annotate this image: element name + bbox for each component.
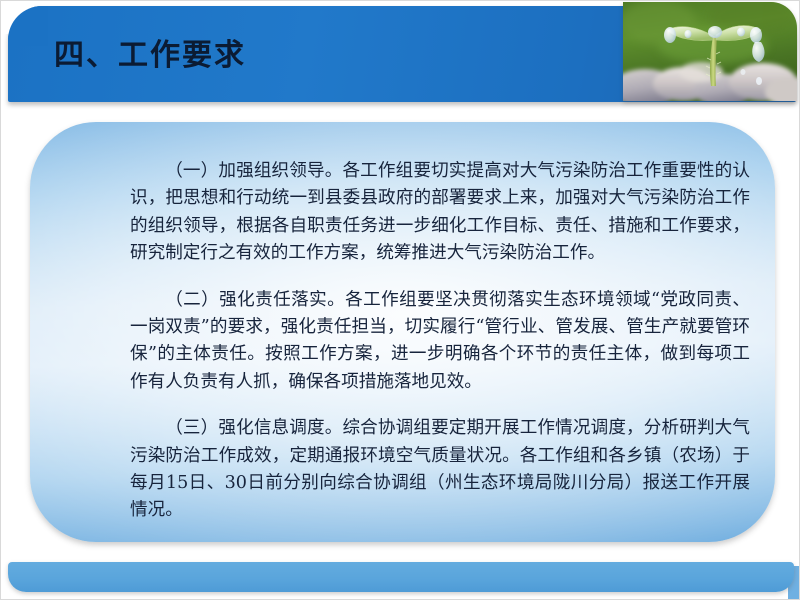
page-title: 四、工作要求	[54, 30, 246, 74]
paragraph-2: （二）强化责任落实。各工作组要坚决贯彻落实生态环境领域“党政同责、一岗双责”的要…	[130, 287, 750, 397]
paragraph-1: （一）加强组织领导。各工作组要切实提高对大气污染防治工作重要性的认识，把思想和行…	[130, 158, 750, 268]
seedling-sprout-photo	[623, 2, 797, 101]
top-left-corner-accent	[0, 0, 34, 34]
slide-bottom-bar	[8, 562, 794, 592]
presentation-slide: 四、工作要求	[0, 0, 800, 600]
slide-content-panel: （一）加强组织领导。各工作组要切实提高对大气污染防治工作重要性的认识，把思想和行…	[30, 122, 775, 542]
slide-body-text: （一）加强组织领导。各工作组要切实提高对大气污染防治工作重要性的认识，把思想和行…	[130, 158, 750, 525]
paragraph-3: （三）强化信息调度。综合协调组要定期开展工作情况调度，分析研判大气污染防治工作成…	[130, 415, 750, 525]
